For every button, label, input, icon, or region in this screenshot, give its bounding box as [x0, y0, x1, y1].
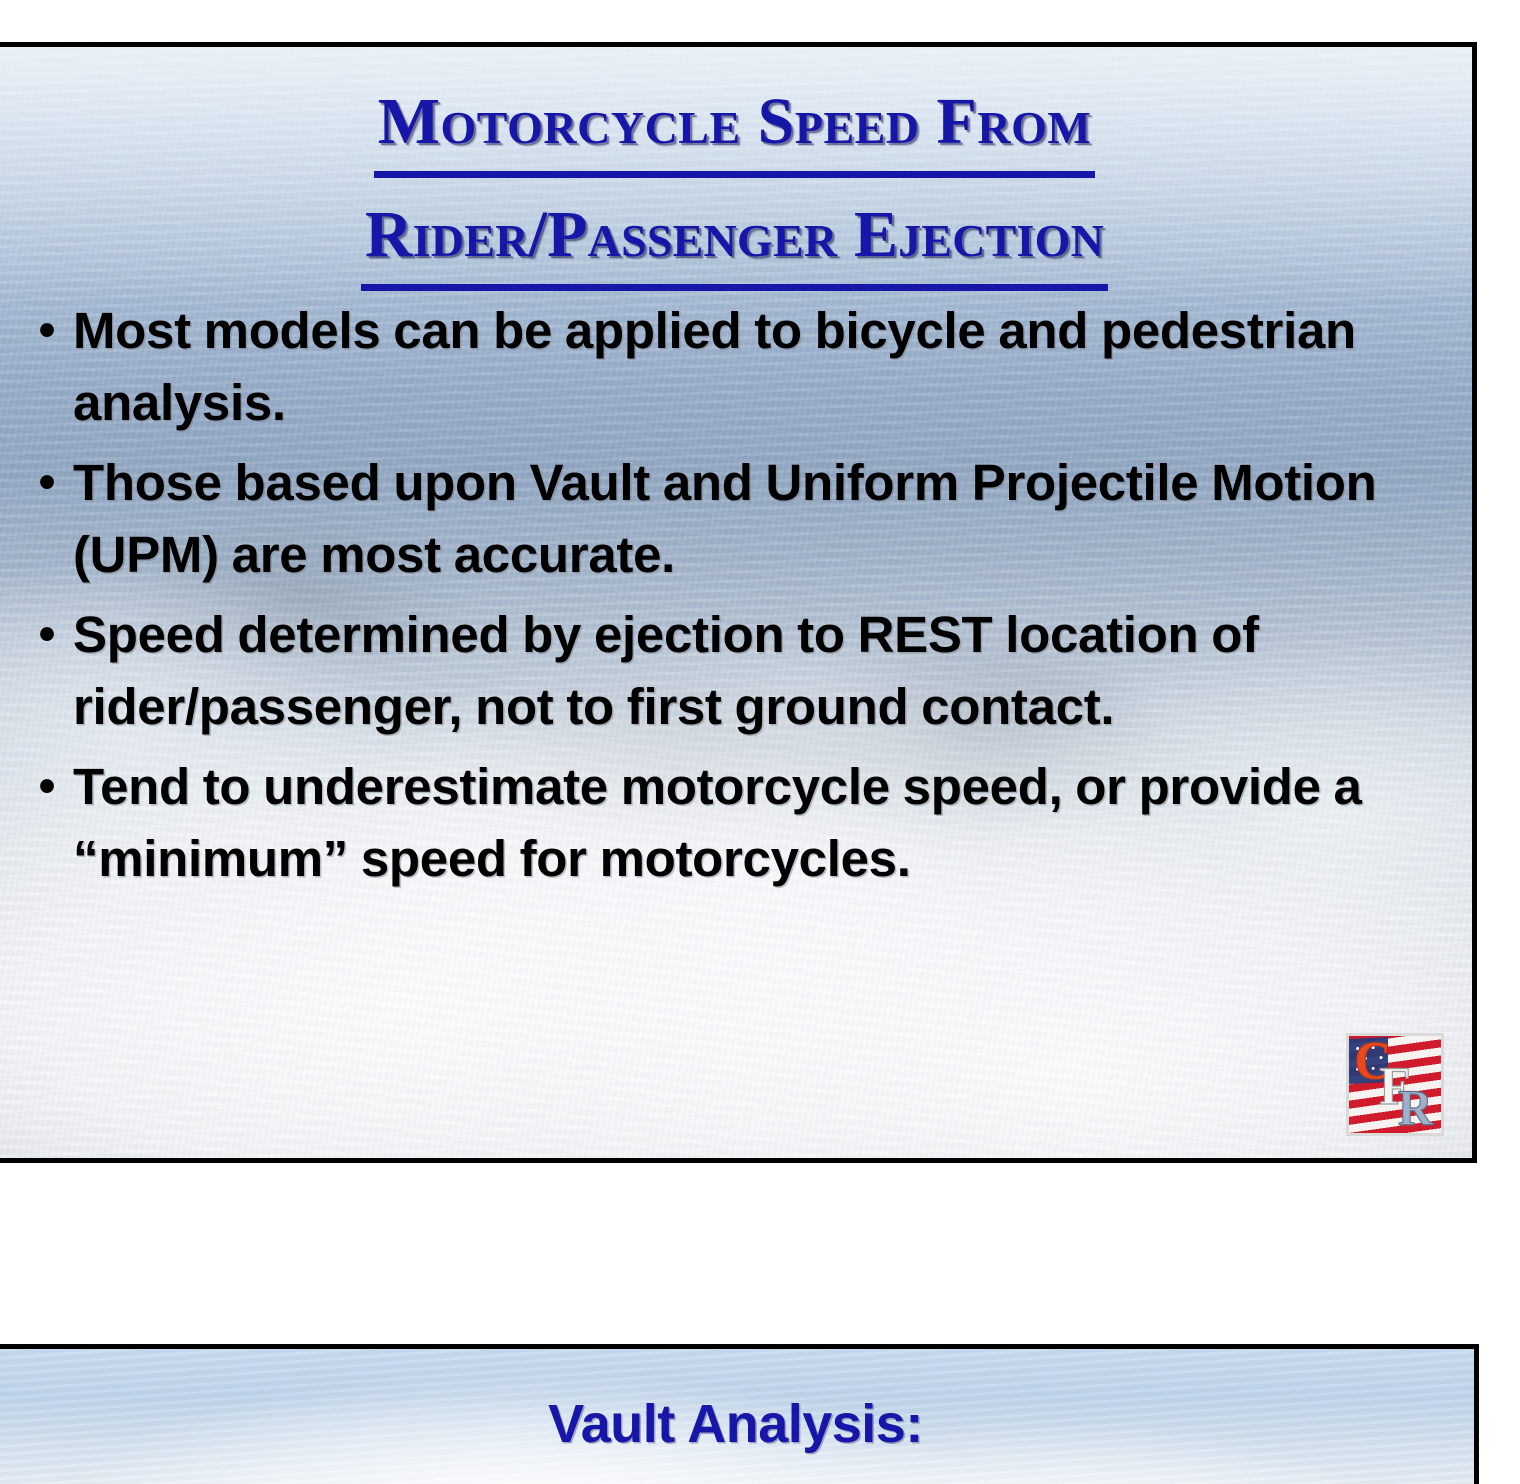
- slide-1-content: Motorcycle Speed from Rider/Passenger Ej…: [0, 47, 1472, 1158]
- bullet-dot-icon: •: [21, 751, 73, 823]
- slide-2[interactable]: Vault Analysis:: [0, 1344, 1479, 1484]
- slide-1[interactable]: Motorcycle Speed from Rider/Passenger Ej…: [0, 42, 1477, 1163]
- slide-1-title-line-2: Rider/Passenger Ejection: [361, 188, 1108, 291]
- slide-1-title-line-1: Motorcycle Speed from: [374, 75, 1096, 178]
- bullet-dot-icon: •: [21, 295, 73, 367]
- list-item: • Tend to underestimate motorcycle speed…: [21, 751, 1454, 895]
- bullet-dot-icon: •: [21, 599, 73, 671]
- list-item: • Speed determined by ejection to REST l…: [21, 599, 1454, 743]
- list-item: • Those based upon Vault and Uniform Pro…: [21, 447, 1454, 591]
- bullet-text: Most models can be applied to bicycle an…: [73, 295, 1454, 439]
- svg-text:R: R: [1398, 1080, 1433, 1133]
- bullet-text: Speed determined by ejection to REST loc…: [73, 599, 1454, 743]
- bullet-text: Those based upon Vault and Uniform Proje…: [73, 447, 1454, 591]
- slide-2-title: Vault Analysis:: [0, 1393, 1474, 1455]
- list-item: • Most models can be applied to bicycle …: [21, 295, 1454, 439]
- bullet-list: • Most models can be applied to bicycle …: [21, 295, 1454, 903]
- bullet-dot-icon: •: [21, 447, 73, 519]
- monogram-letters: C F R: [1349, 1036, 1441, 1133]
- slide-1-title: Motorcycle Speed from Rider/Passenger Ej…: [0, 75, 1472, 291]
- american-flag-monogram-logo-icon: C F R: [1346, 1033, 1444, 1136]
- bullet-text: Tend to underestimate motorcycle speed, …: [73, 751, 1454, 895]
